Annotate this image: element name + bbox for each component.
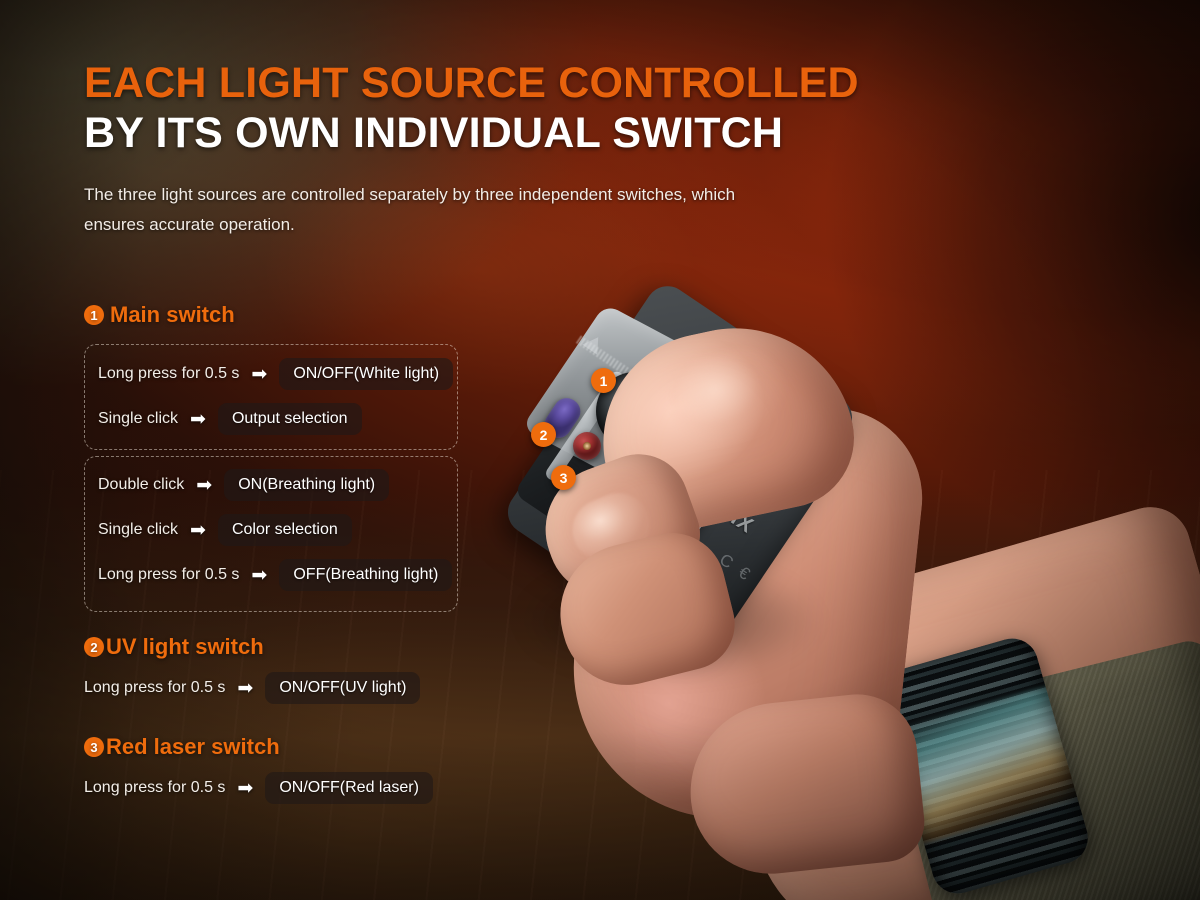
row-label: Long press for 0.5 s xyxy=(84,779,225,797)
row-result-chip: Output selection xyxy=(218,403,362,435)
section-badge-3: 3 xyxy=(84,737,104,757)
arrow-right-icon: ➡ xyxy=(237,779,253,798)
text-content: EACH LIGHT SOURCE CONTROLLED BY ITS OWN … xyxy=(0,0,1200,900)
row-label: Long press for 0.5 s xyxy=(84,679,225,697)
arrow-right-icon: ➡ xyxy=(196,476,212,495)
instruction-row: Single click ➡ Color selection xyxy=(98,513,352,547)
row-label: Long press for 0.5 s xyxy=(98,365,239,383)
infographic-canvas: E06R FENIX ✦ C € 1 2 3 EACH LIGHT SOURCE… xyxy=(0,0,1200,900)
section-title-3: Red laser switch xyxy=(106,734,280,760)
row-label: Single click xyxy=(98,521,178,539)
headline-line-1: EACH LIGHT SOURCE CONTROLLED xyxy=(84,58,859,108)
arrow-right-icon: ➡ xyxy=(251,365,267,384)
row-result-chip: ON/OFF(White light) xyxy=(279,358,453,390)
arrow-right-icon: ➡ xyxy=(190,521,206,540)
row-result-chip: ON(Breathing light) xyxy=(224,469,389,501)
row-label: Single click xyxy=(98,410,178,428)
section-title-1: Main switch xyxy=(110,302,235,328)
subtitle-line-1: The three light sources are controlled s… xyxy=(84,180,820,210)
arrow-right-icon: ➡ xyxy=(237,679,253,698)
arrow-right-icon: ➡ xyxy=(190,410,206,429)
row-label: Double click xyxy=(98,476,184,494)
section-badge-2: 2 xyxy=(84,637,104,657)
row-result-chip: ON/OFF(Red laser) xyxy=(265,772,433,804)
row-label: Long press for 0.5 s xyxy=(98,566,239,584)
row-result-chip: OFF(Breathing light) xyxy=(279,559,452,591)
page-title: EACH LIGHT SOURCE CONTROLLED BY ITS OWN … xyxy=(84,58,859,158)
row-result-chip: Color selection xyxy=(218,514,352,546)
row-result-chip: ON/OFF(UV light) xyxy=(265,672,420,704)
instruction-row: Long press for 0.5 s ➡ OFF(Breathing lig… xyxy=(98,558,452,592)
headline-line-2: BY ITS OWN INDIVIDUAL SWITCH xyxy=(84,108,859,158)
section-heading-red-laser-switch: 3 Red laser switch xyxy=(84,734,280,760)
arrow-right-icon: ➡ xyxy=(251,566,267,585)
subtitle-line-2: ensures accurate operation. xyxy=(84,210,820,240)
section-title-2: UV light switch xyxy=(106,634,264,660)
instruction-row: Long press for 0.5 s ➡ ON/OFF(White ligh… xyxy=(98,357,453,391)
subtitle: The three light sources are controlled s… xyxy=(84,180,820,240)
instruction-row: Long press for 0.5 s ➡ ON/OFF(Red laser) xyxy=(84,771,433,805)
section-heading-main-switch: 1 Main switch xyxy=(84,302,235,328)
section-badge-1: 1 xyxy=(84,305,104,325)
instruction-row: Single click ➡ Output selection xyxy=(98,402,362,436)
section-heading-uv-light-switch: 2 UV light switch xyxy=(84,634,264,660)
instruction-row: Long press for 0.5 s ➡ ON/OFF(UV light) xyxy=(84,671,420,705)
instruction-row: Double click ➡ ON(Breathing light) xyxy=(98,468,389,502)
